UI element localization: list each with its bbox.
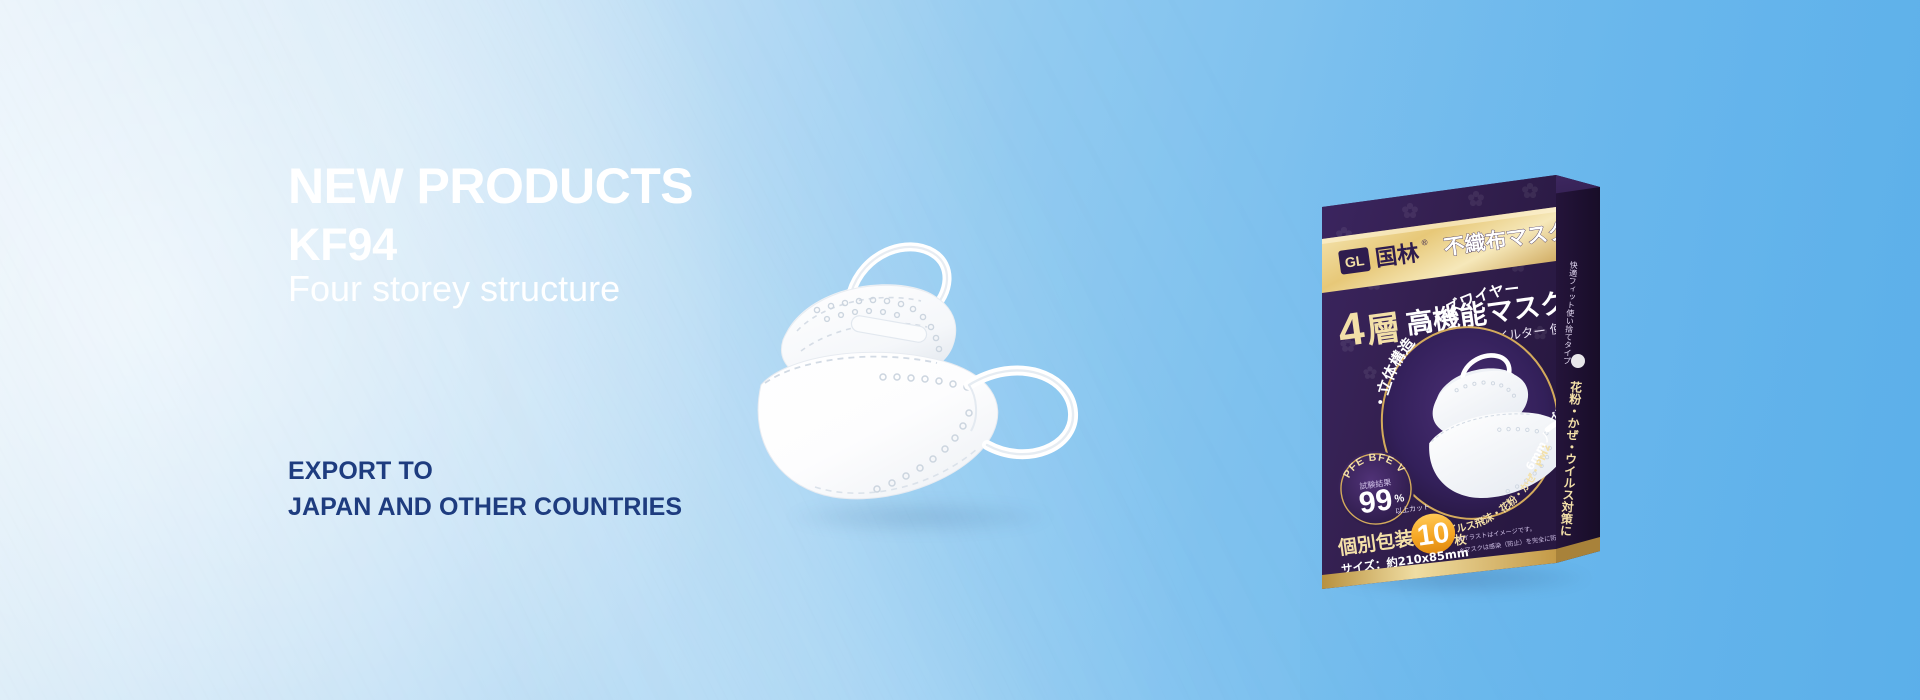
export-line-1: EXPORT TO (288, 453, 682, 489)
kf94-mask-illustration (755, 235, 1085, 535)
brand-logo-mark-text: GL (1344, 252, 1366, 271)
export-line-2: JAPAN AND OTHER COUNTRIES (288, 489, 682, 525)
badge-unit: % (1394, 492, 1406, 505)
box-side-dot-icon (1571, 354, 1585, 368)
mask-body (758, 352, 998, 499)
mask-svg (755, 235, 1085, 535)
page-title: NEW PRODUCTS (288, 161, 693, 211)
product-subtitle: Four storey structure (288, 271, 620, 307)
product-box: GL 国林 ® 不織布マスク 4 層 高機能マスク カット高性能フイルター 使用 (1318, 165, 1618, 595)
export-statement: EXPORT TO JAPAN AND OTHER COUNTRIES (288, 453, 682, 525)
kf94-promo-banner: NEW PRODUCTS KF94 Four storey structure … (0, 0, 1920, 700)
product-box-svg: GL 国林 ® 不織布マスク 4 層 高機能マスク カット高性能フイルター 使用 (1318, 165, 1618, 595)
badge-value: 99 (1357, 483, 1395, 520)
product-name-title: KF94 (288, 222, 397, 267)
